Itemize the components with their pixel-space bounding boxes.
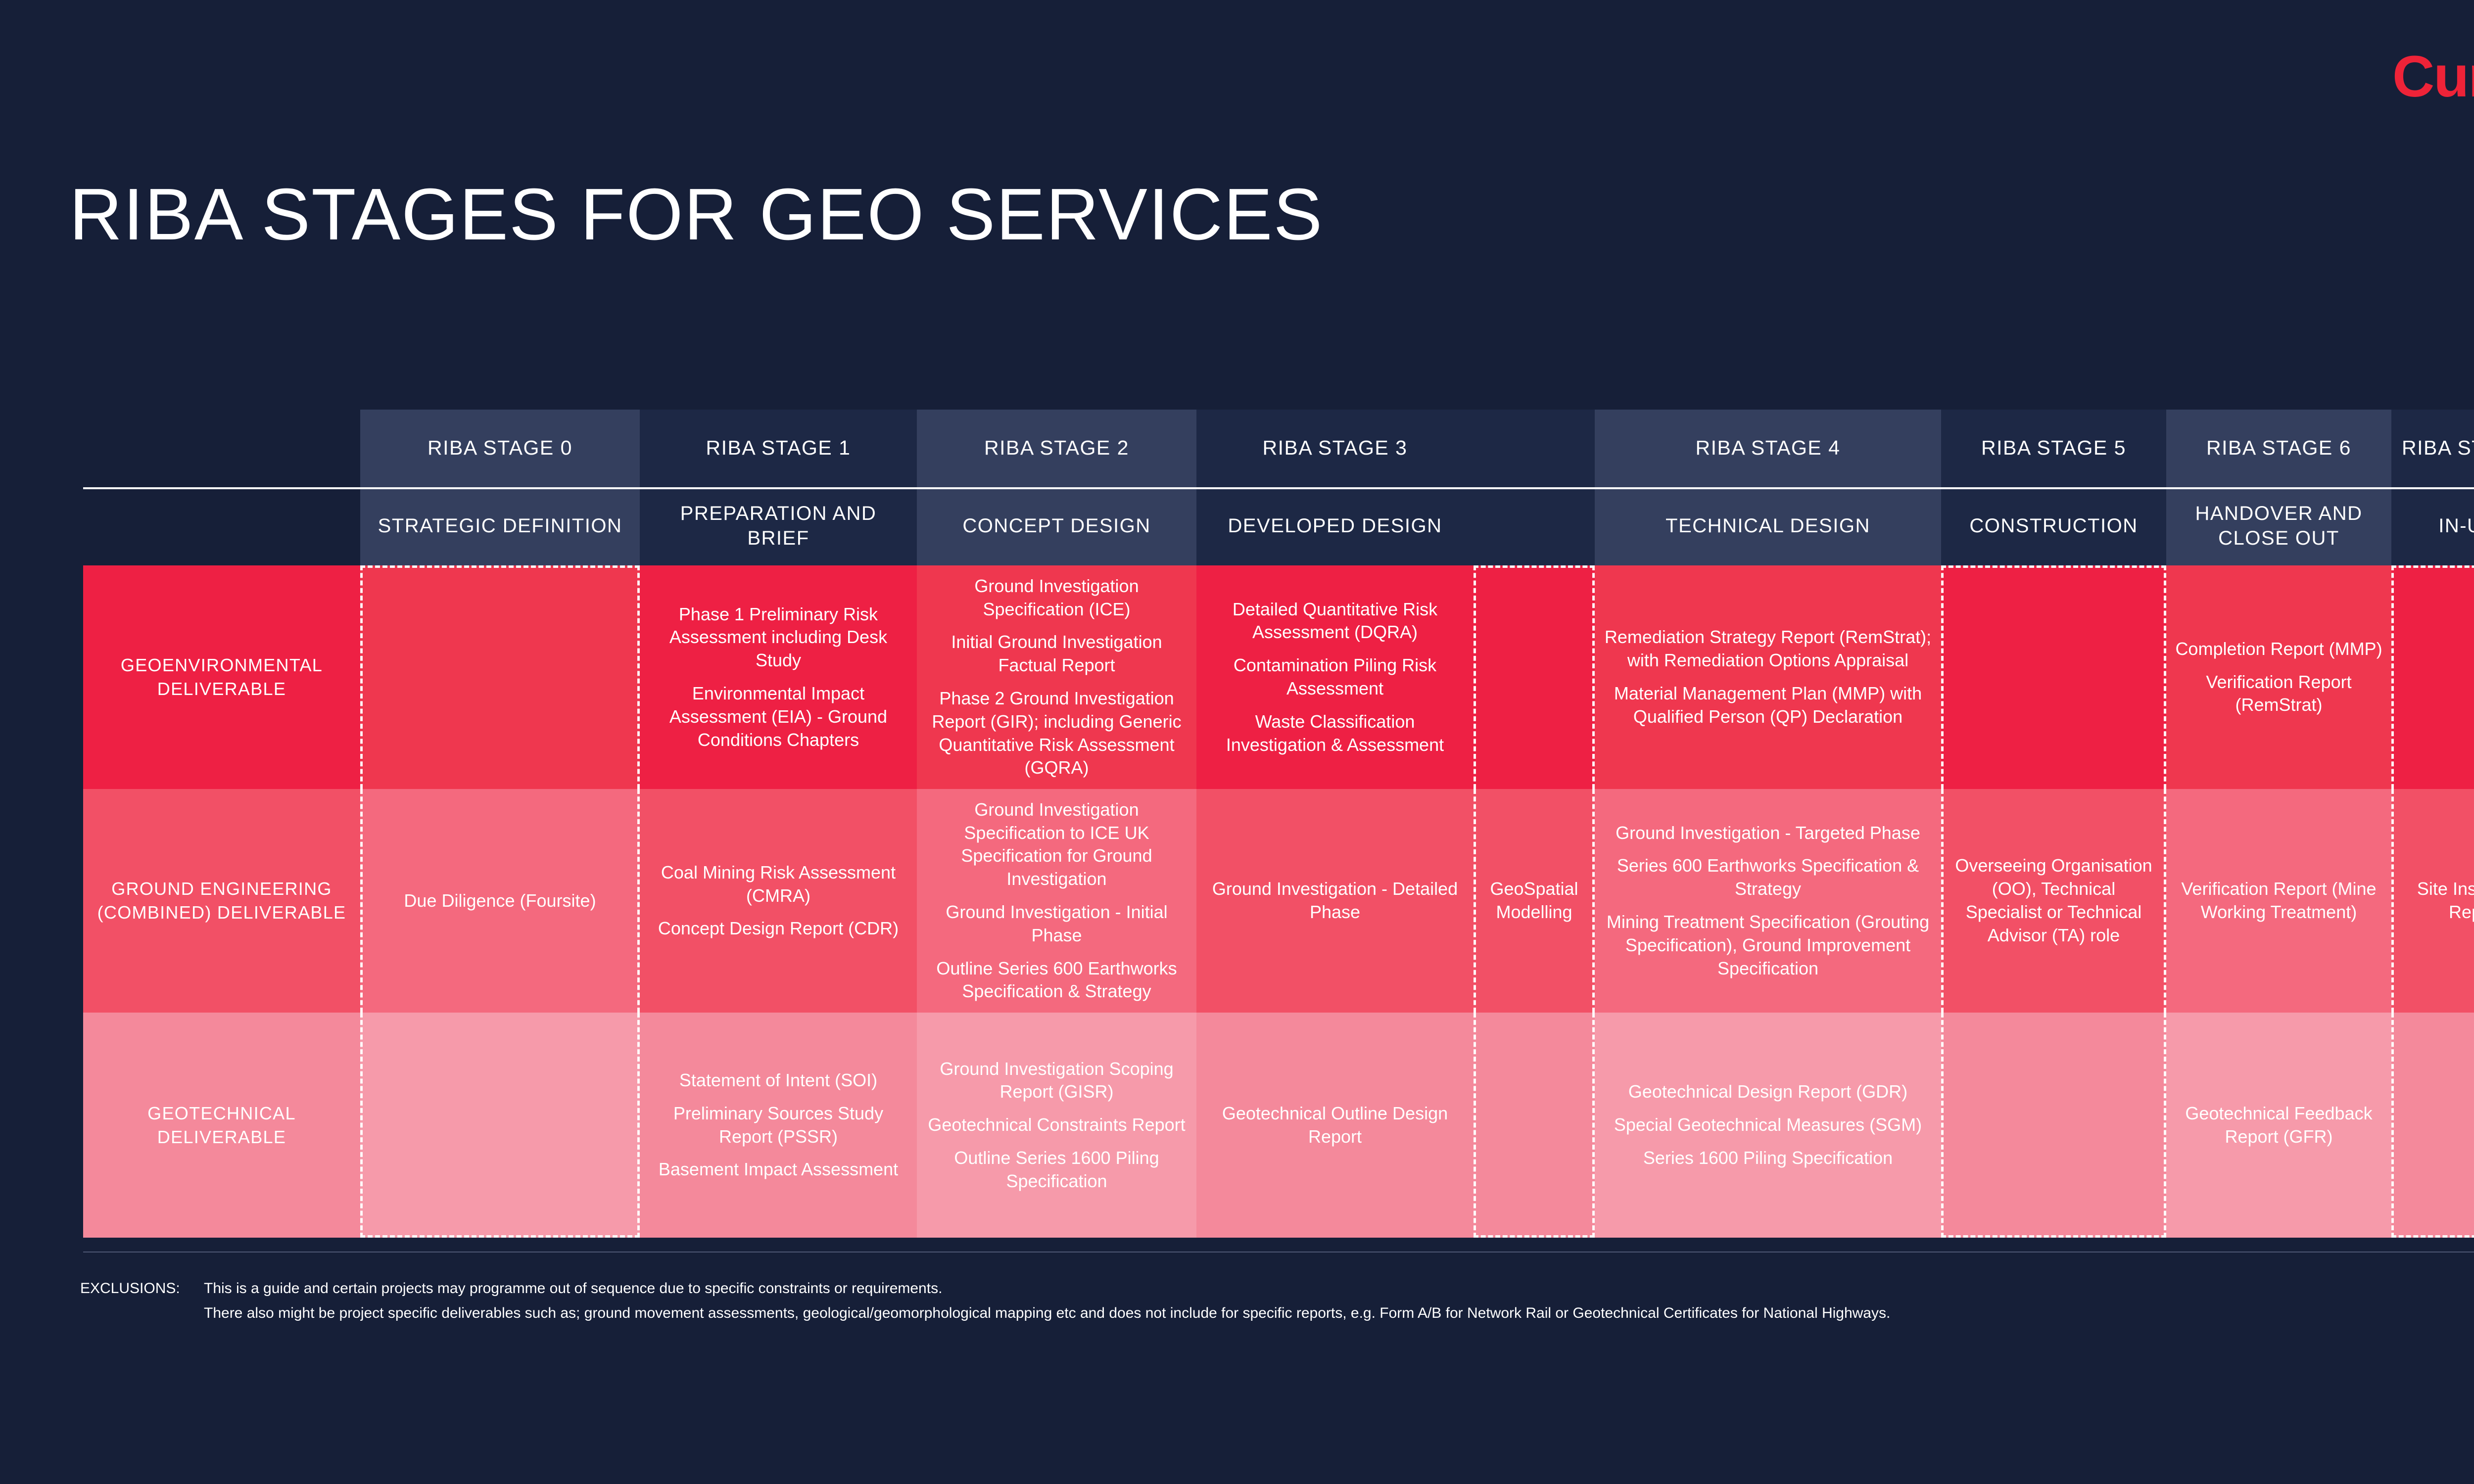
cell-geotech-stage3: Geotechnical Outline Design Report: [1196, 1013, 1474, 1238]
row-ground-engineering: GROUND ENGINEERING (COMBINED) DELIVERABL…: [83, 789, 2474, 1013]
slide-root: Curtins RIBA STAGES FOR GEO SERVICES RIB…: [0, 0, 2474, 1484]
deliverable-item: Contamination Piling Risk Assessment: [1204, 654, 1466, 700]
deliverable-item: Ground Investigation - Targeted Phase: [1603, 822, 1933, 845]
stage-name-header-row: STRATEGIC DEFINITION PREPARATION AND BRI…: [83, 486, 2474, 565]
stage-name-7: IN-USE: [2391, 486, 2474, 565]
exclusions-line-1: EXCLUSIONS: This is a guide and certain …: [80, 1276, 2474, 1301]
stage-number-0: RIBA STAGE 0: [360, 410, 640, 486]
deliverable-item: Due Diligence (Foursite): [404, 889, 596, 913]
stage-number-7: RIBA STAGE 7: [2391, 410, 2474, 486]
deliverable-item: Outline Series 600 Earthworks Specificat…: [925, 957, 1189, 1004]
deliverable-item: Verification Report (Mine Working Treatm…: [2174, 878, 2383, 924]
stage-number-1: RIBA STAGE 1: [640, 410, 917, 486]
deliverable-item: Environmental Impact Assessment (EIA) - …: [648, 682, 909, 751]
deliverable-item: Site Inspection Report: [2402, 878, 2474, 924]
deliverable-item: Coal Mining Risk Assessment (CMRA): [648, 861, 909, 908]
deliverable-item: Geotechnical Constraints Report: [925, 1113, 1189, 1137]
deliverable-item: Special Geotechnical Measures (SGM): [1614, 1113, 1922, 1137]
deliverable-item: Outline Series 1600 Piling Specification: [925, 1147, 1189, 1193]
exclusions-label: EXCLUSIONS:: [80, 1276, 204, 1301]
deliverable-item: Verification Report (RemStrat): [2174, 671, 2383, 717]
deliverable-item: Ground Investigation Specification (ICE): [925, 575, 1189, 621]
cell-geoenv-stage4: Remediation Strategy Report (RemStrat); …: [1595, 565, 1941, 789]
cell-geotech-stage4: Geotechnical Design Report (GDR)Special …: [1595, 1013, 1941, 1238]
stage-name-3-extra: [1474, 486, 1595, 565]
deliverable-item: Remediation Strategy Report (RemStrat); …: [1603, 626, 1933, 672]
exclusions-text-1: This is a guide and certain projects may…: [204, 1276, 2474, 1301]
cell-geotech-stage7: [2391, 1013, 2474, 1238]
stage-number-3-extra: [1474, 410, 1595, 486]
cell-geoenv-stage5: [1941, 565, 2166, 789]
cell-geotech-stage2: Ground Investigation Scoping Report (GIS…: [917, 1013, 1196, 1238]
deliverable-item: Overseeing Organisation (OO), Technical …: [1951, 854, 2156, 947]
cell-ground-stage5: Overseeing Organisation (OO), Technical …: [1941, 789, 2166, 1013]
deliverable-item: Geotechnical Design Report (GDR): [1614, 1080, 1922, 1104]
header-divider-rule: [83, 487, 2474, 489]
row-geoenvironmental: GEOENVIRONMENTAL DELIVERABLE Phase 1 Pre…: [83, 565, 2474, 789]
deliverable-item: Waste Classification Investigation & Ass…: [1204, 710, 1466, 757]
stage-number-2: RIBA STAGE 2: [917, 410, 1196, 486]
cell-ground-stage3: Ground Investigation - Detailed Phase: [1196, 789, 1474, 1013]
deliverable-item: Ground Investigation - Initial Phase: [925, 901, 1189, 947]
cell-ground-stage6: Verification Report (Mine Working Treatm…: [2166, 789, 2391, 1013]
stage-number-6: RIBA STAGE 6: [2166, 410, 2391, 486]
cell-ground-stage0: Due Diligence (Foursite): [360, 789, 640, 1013]
stage-name-4: TECHNICAL DESIGN: [1595, 486, 1941, 565]
cell-geoenv-stage1: Phase 1 Preliminary Risk Assessment incl…: [640, 565, 917, 789]
row-label-text: GROUND ENGINEERING (COMBINED) DELIVERABL…: [91, 877, 352, 924]
cell-geoenv-stage6: Completion Report (MMP)Verification Repo…: [2166, 565, 2391, 789]
cell-geotech-stage3-extra: [1474, 1013, 1595, 1238]
cell-geotech-stage0: [360, 1013, 640, 1238]
stage-name-2: CONCEPT DESIGN: [917, 486, 1196, 565]
row-geotechnical: GEOTECHNICAL DELIVERABLE Statement of In…: [83, 1013, 2474, 1238]
cell-geoenv-stage0: [360, 565, 640, 789]
deliverable-item: Material Management Plan (MMP) with Qual…: [1603, 682, 1933, 729]
deliverable-item: Preliminary Sources Study Report (PSSR): [648, 1102, 909, 1149]
deliverable-item: Ground Investigation Scoping Report (GIS…: [925, 1058, 1189, 1104]
stage-number-header-row: RIBA STAGE 0 RIBA STAGE 1 RIBA STAGE 2 R…: [83, 410, 2474, 486]
cell-ground-stage7: Site Inspection Report: [2391, 789, 2474, 1013]
exclusions-text-2: There also might be project specific del…: [204, 1301, 2474, 1326]
curtins-logo: Curtins: [2392, 47, 2474, 106]
deliverable-item: Concept Design Report (CDR): [648, 917, 909, 940]
page-title: RIBA STAGES FOR GEO SERVICES: [69, 178, 1323, 251]
deliverable-item: Mining Treatment Specification (Grouting…: [1603, 911, 1933, 980]
cell-ground-stage4: Ground Investigation - Targeted PhaseSer…: [1595, 789, 1941, 1013]
cell-ground-stage3-extra: GeoSpatial Modelling: [1474, 789, 1595, 1013]
stage-name-5: CONSTRUCTION: [1941, 486, 2166, 565]
riba-matrix: RIBA STAGE 0 RIBA STAGE 1 RIBA STAGE 2 R…: [83, 410, 2474, 1238]
deliverable-item: Completion Report (MMP): [2174, 638, 2383, 661]
deliverable-item: Geotechnical Outline Design Report: [1204, 1102, 1466, 1149]
stage-name-3: DEVELOPED DESIGN: [1196, 486, 1474, 565]
deliverable-item: Series 600 Earthworks Specification & St…: [1603, 854, 1933, 901]
deliverable-item: GeoSpatial Modelling: [1484, 878, 1584, 924]
cell-geotech-stage5: [1941, 1013, 2166, 1238]
cell-geoenv-stage2: Ground Investigation Specification (ICE)…: [917, 565, 1196, 789]
cell-geoenv-stage7: [2391, 565, 2474, 789]
footer-divider-rule: [83, 1252, 2474, 1252]
cell-geotech-stage1: Statement of Intent (SOI)Preliminary Sou…: [640, 1013, 917, 1238]
stage-name-1: PREPARATION AND BRIEF: [640, 486, 917, 565]
deliverable-item: Phase 2 Ground Investigation Report (GIR…: [925, 687, 1189, 780]
cell-ground-stage1: Coal Mining Risk Assessment (CMRA)Concep…: [640, 789, 917, 1013]
deliverable-item: Geotechnical Feedback Report (GFR): [2174, 1102, 2383, 1149]
cell-geotech-stage6: Geotechnical Feedback Report (GFR): [2166, 1013, 2391, 1238]
cell-geoenv-stage3: Detailed Quantitative Risk Assessment (D…: [1196, 565, 1474, 789]
stage-name-6: HANDOVER AND CLOSE OUT: [2166, 486, 2391, 565]
header-corner-spacer: [83, 410, 360, 486]
stage-number-5: RIBA STAGE 5: [1941, 410, 2166, 486]
deliverable-item: Ground Investigation - Detailed Phase: [1204, 878, 1466, 924]
deliverable-item: Phase 1 Preliminary Risk Assessment incl…: [648, 603, 909, 672]
deliverable-item: Detailed Quantitative Risk Assessment (D…: [1204, 598, 1466, 645]
stage-number-3: RIBA STAGE 3: [1196, 410, 1474, 486]
row-label-text: GEOTECHNICAL DELIVERABLE: [91, 1102, 352, 1149]
exclusions-footer: EXCLUSIONS: This is a guide and certain …: [80, 1276, 2474, 1325]
row-label-text: GEOENVIRONMENTAL DELIVERABLE: [91, 653, 352, 700]
row-label-ground-engineering: GROUND ENGINEERING (COMBINED) DELIVERABL…: [83, 789, 360, 1013]
cell-ground-stage2: Ground Investigation Specification to IC…: [917, 789, 1196, 1013]
row-label-geoenvironmental: GEOENVIRONMENTAL DELIVERABLE: [83, 565, 360, 789]
header-corner-spacer-2: [83, 486, 360, 565]
deliverable-item: Initial Ground Investigation Factual Rep…: [925, 631, 1189, 677]
deliverable-item: Basement Impact Assessment: [648, 1158, 909, 1181]
cell-geoenv-stage3-extra: [1474, 565, 1595, 789]
stage-name-0: STRATEGIC DEFINITION: [360, 486, 640, 565]
deliverable-item: Ground Investigation Specification to IC…: [925, 798, 1189, 891]
deliverable-item: Statement of Intent (SOI): [648, 1069, 909, 1092]
deliverable-item: Series 1600 Piling Specification: [1614, 1147, 1922, 1170]
row-label-geotechnical: GEOTECHNICAL DELIVERABLE: [83, 1013, 360, 1238]
stage-number-4: RIBA STAGE 4: [1595, 410, 1941, 486]
